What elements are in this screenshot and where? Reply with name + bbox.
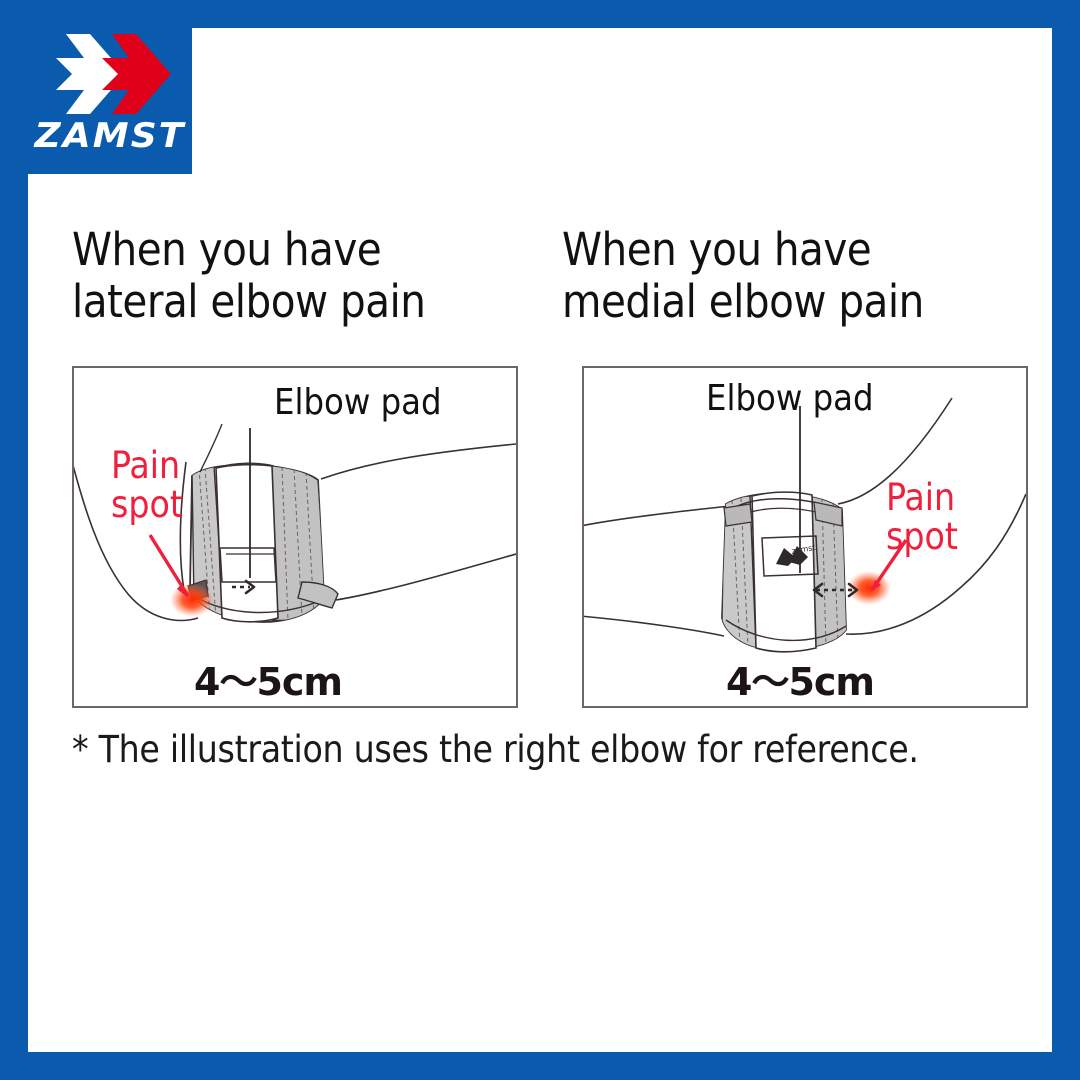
pain-spot-marker — [170, 583, 214, 617]
pain-spot-label-line2: spot — [886, 517, 958, 556]
heading-medial-line2: medial elbow pain — [562, 276, 1032, 328]
pain-spot-arrow — [150, 535, 188, 598]
pain-spot-label-line2: spot — [111, 485, 183, 524]
heading-lateral-line2: lateral elbow pain — [72, 276, 542, 328]
heading-lateral: When you have lateral elbow pain — [72, 224, 542, 328]
panel-lateral-elbow: Elbow pad Pain spot 4〜5cm — [72, 366, 518, 708]
headings-row: When you have lateral elbow pain When yo… — [28, 224, 1052, 328]
zamst-wordmark: ZAMST — [28, 116, 192, 156]
heading-medial-line1: When you have — [562, 224, 1032, 276]
illustration-panels: Elbow pad Pain spot 4〜5cm — [72, 366, 1028, 708]
zamst-logo: ZAMST — [28, 28, 192, 174]
elbow-pad-label-medial: Elbow pad — [706, 378, 874, 419]
footnote-text: * The illustration uses the right elbow … — [72, 728, 1032, 771]
elbow-pad-label-lateral: Elbow pad — [274, 382, 442, 423]
pain-spot-label-lateral: Pain spot — [111, 446, 183, 524]
pain-spot-label-line1: Pain — [111, 446, 183, 485]
heading-lateral-line1: When you have — [72, 224, 542, 276]
double-chevron-arrow-logo-icon — [28, 32, 192, 116]
panel-medial-elbow: zamst — [582, 366, 1028, 708]
heading-medial: When you have medial elbow pain — [562, 224, 1032, 328]
elbow-pad-leader-line-2 — [200, 424, 222, 472]
measurement-label-medial: 4〜5cm — [726, 651, 874, 706]
measurement-label-lateral: 4〜5cm — [194, 651, 342, 706]
pain-spot-label-medial: Pain spot — [886, 478, 958, 556]
pain-spot-label-line1: Pain — [886, 478, 958, 517]
page-root: ZAMST When you have lateral elbow pain W… — [0, 0, 1080, 1080]
white-canvas: ZAMST When you have lateral elbow pain W… — [28, 28, 1052, 1052]
